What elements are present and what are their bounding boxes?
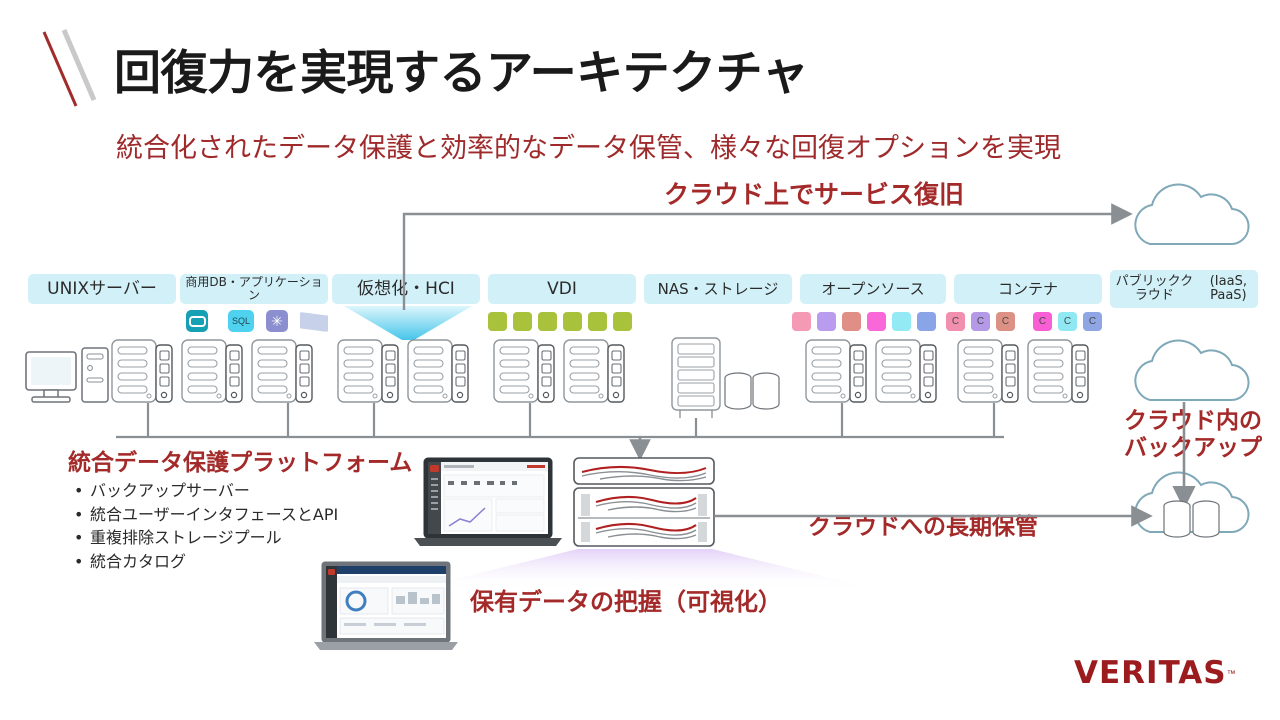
architecture-diagram <box>0 0 1280 720</box>
slide-canvas: 回復力を実現するアーキテクチャ 統合化されたデータ保護と効率的なデータ保管、様々… <box>0 0 1280 720</box>
platform-console-laptop <box>414 458 562 546</box>
workstation-icon <box>26 348 108 402</box>
public-cloud-bottom <box>1135 472 1248 532</box>
trademark-symbol: ™ <box>1227 669 1236 679</box>
visibility-console-laptop <box>314 562 458 650</box>
public-cloud-top <box>1135 184 1248 244</box>
veritas-wordmark: VERITAS <box>1074 655 1227 691</box>
veritas-logo: VERITAS™ <box>1074 655 1236 691</box>
nas-storage-icon <box>672 338 720 418</box>
public-cloud-middle <box>1135 340 1248 400</box>
